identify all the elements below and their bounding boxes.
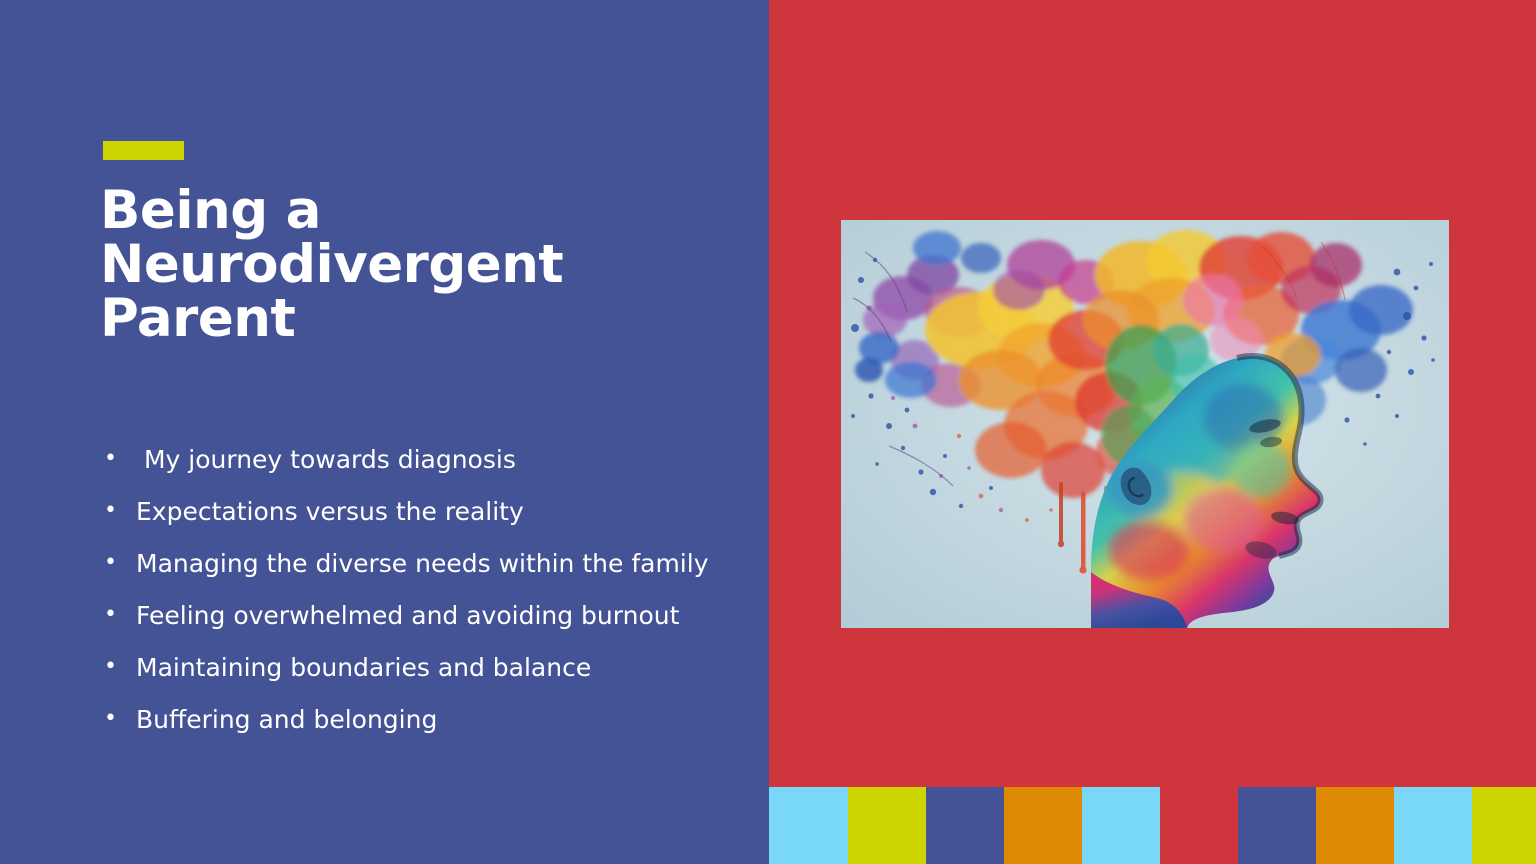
strip-band-7 xyxy=(1238,787,1316,864)
list-item: Expectations versus the reality xyxy=(100,498,710,526)
bottom-color-strip xyxy=(769,787,1536,864)
list-item: Buffering and belonging xyxy=(100,706,710,734)
list-item: Feeling overwhelmed and avoiding burnout xyxy=(100,602,710,630)
accent-bar xyxy=(103,141,184,160)
list-item: Managing the diverse needs within the fa… xyxy=(100,550,710,578)
strip-band-9 xyxy=(1394,787,1472,864)
artwork-image xyxy=(841,220,1449,628)
strip-band-6 xyxy=(1160,787,1238,864)
strip-band-5 xyxy=(1082,787,1160,864)
bullet-list: My journey towards diagnosis Expectation… xyxy=(100,446,710,758)
page-title: Being a Neurodivergent Parent xyxy=(100,184,660,346)
strip-band-10 xyxy=(1472,787,1536,864)
strip-band-3 xyxy=(926,787,1004,864)
list-item: Maintaining boundaries and balance xyxy=(100,654,710,682)
strip-band-2 xyxy=(848,787,926,864)
strip-band-4 xyxy=(1004,787,1082,864)
list-item: My journey towards diagnosis xyxy=(100,446,710,474)
presentation-slide: Being a Neurodivergent Parent My journey… xyxy=(0,0,1536,864)
strip-band-8 xyxy=(1316,787,1394,864)
strip-band-1 xyxy=(769,787,848,864)
paint-splatter-head-illustration xyxy=(841,220,1449,628)
